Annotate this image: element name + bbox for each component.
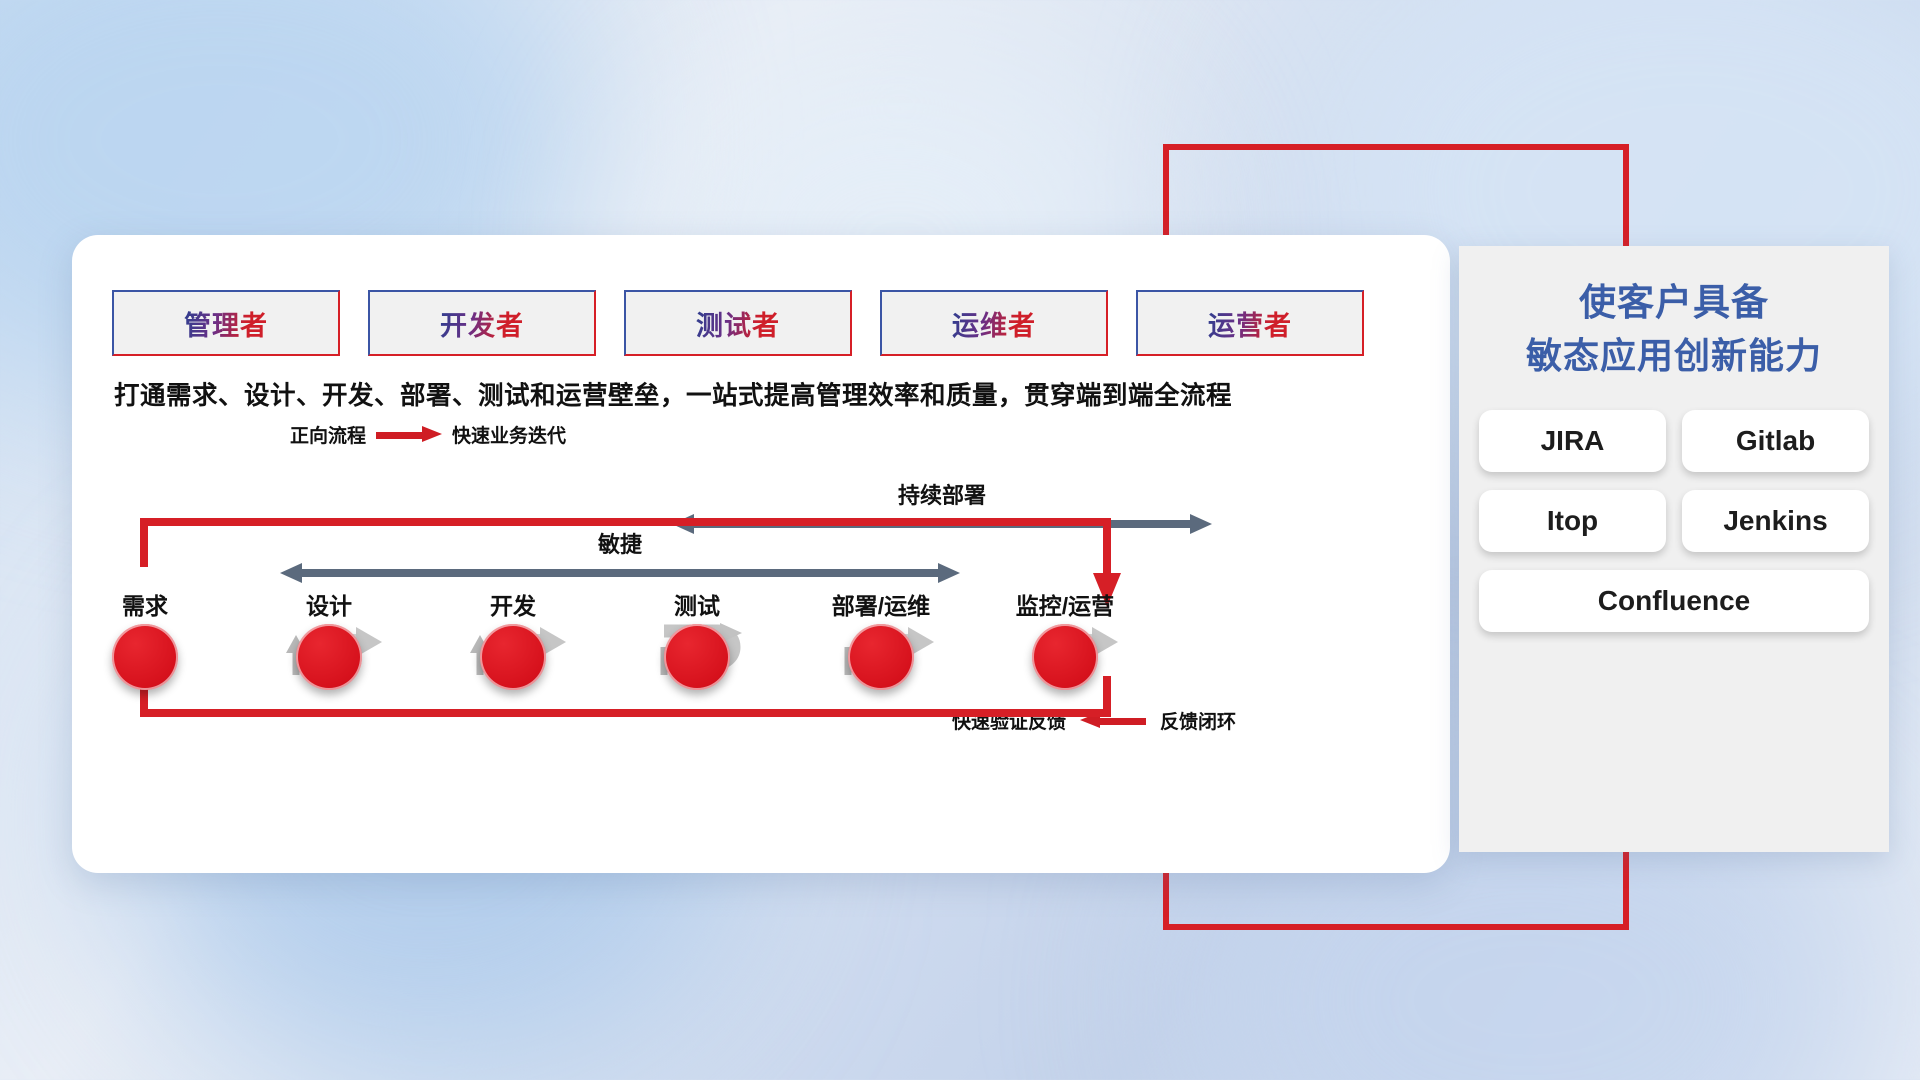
description-text: 打通需求、设计、开发、部署、测试和运营壁垒，一站式提高管理效率和质量，贯穿端到端… [114,375,1414,412]
tool-chip-gitlab[interactable]: Gitlab [1682,410,1869,472]
tool-label: Gitlab [1736,425,1815,457]
span-label-deploy: 持续部署 [672,478,1212,510]
role-label: 运营者 [1208,304,1292,343]
role-chip-tester[interactable]: 测试者 [624,290,852,356]
span-continuous-deployment: 持续部署 [672,478,1212,534]
role-chip-manager[interactable]: 管理者 [112,290,340,356]
role-chip-developer[interactable]: 开发者 [368,290,596,356]
arrow-head-right-icon [1190,514,1212,534]
process-node-requirements[interactable]: 需求 [80,587,210,690]
double-headed-arrow-icon [280,563,960,583]
feedback-from-label: 反馈闭环 [1160,707,1236,734]
process-node-dot [1032,624,1098,690]
process-node-label: 开发 [448,587,578,621]
span-agile: 敏捷 [280,527,960,583]
tool-chip-jenkins[interactable]: Jenkins [1682,490,1869,552]
role-label: 管理者 [184,304,268,343]
process-node-deploy-ops[interactable]: 部署/运维 [816,587,946,690]
tool-chip-list: JIRA Gitlab Itop Jenkins Confluence [1479,410,1869,632]
process-node-testing[interactable]: 测试 [632,587,762,690]
tool-chip-confluence[interactable]: Confluence [1479,570,1869,632]
process-node-dot [848,624,914,690]
feedback-to-label: 快速验证反馈 [952,707,1066,734]
process-node-label: 部署/运维 [816,587,946,621]
forward-flow-from-label: 正向流程 [290,421,366,448]
panel-title: 使客户具备 敏态应用创新能力 [1459,276,1889,382]
process-node-label: 设计 [264,587,394,621]
process-node-dot [480,624,546,690]
role-label: 开发者 [440,304,524,343]
process-node-dot [664,624,730,690]
process-node-label: 需求 [80,587,210,621]
process-node-dot [112,624,178,690]
panel-title-line2: 敏态应用创新能力 [1459,330,1889,382]
feedback-loop-legend: 快速验证反馈 反馈闭环 [952,707,1236,734]
arrow-head-left-icon [280,563,302,583]
tool-label: Jenkins [1723,505,1827,537]
tool-chip-jira[interactable]: JIRA [1479,410,1666,472]
value-proposition-panel: 使客户具备 敏态应用创新能力 JIRA Gitlab Itop Jenkins … [1459,246,1889,852]
process-node-label: 监控/运营 [1000,587,1130,621]
arrow-head-right-icon [938,563,960,583]
forward-flow-legend: 正向流程 快速业务迭代 [290,421,566,448]
process-chain: 需求 设计 开发 测试 部署/运维 监控/运营 [118,587,1408,707]
role-chip-operations[interactable]: 运营者 [1136,290,1364,356]
process-node-label: 测试 [632,587,762,621]
red-arrow-right-icon [376,428,442,442]
span-label-agile: 敏捷 [280,527,960,559]
tool-chip-itop[interactable]: Itop [1479,490,1666,552]
process-node-development[interactable]: 开发 [448,587,578,690]
process-node-monitor-operations[interactable]: 监控/运营 [1000,587,1130,690]
forward-flow-to-label: 快速业务迭代 [452,421,566,448]
tool-label: Confluence [1598,585,1750,617]
process-node-dot [296,624,362,690]
role-label: 测试者 [696,304,780,343]
process-node-design[interactable]: 设计 [264,587,394,690]
tool-label: JIRA [1541,425,1605,457]
role-label: 运维者 [952,304,1036,343]
red-arrow-left-icon [1080,714,1146,728]
role-chip-row: 管理者 开发者 测试者 运维者 运营者 [112,290,1364,356]
panel-title-line1: 使客户具备 [1459,276,1889,330]
tool-label: Itop [1547,505,1598,537]
main-diagram-card: 管理者 开发者 测试者 运维者 运营者 打通需求、设计、开发、部署、测试和运营壁… [72,235,1450,873]
role-chip-ops[interactable]: 运维者 [880,290,1108,356]
